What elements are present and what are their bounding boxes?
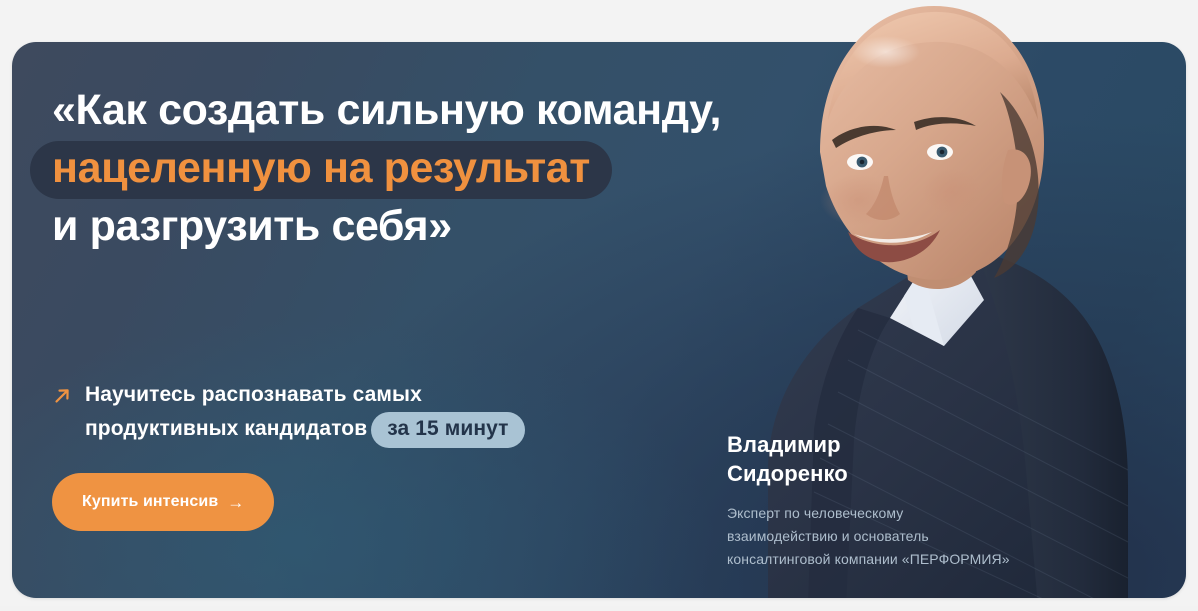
speaker-bio: Эксперт по человеческому взаимодействию … xyxy=(727,502,1057,571)
hero-content: «Как создать сильную команду, нацеленную… xyxy=(52,0,752,606)
feature-text-wrap: Научитесь распознавать самых продуктивны… xyxy=(85,378,565,448)
hero-stage: «Как создать сильную команду, нацеленную… xyxy=(0,0,1198,606)
headline-line-1: «Как создать сильную команду, xyxy=(52,81,752,139)
speaker-name: Владимир Сидоренко xyxy=(727,430,1057,488)
arrow-up-right-icon xyxy=(52,386,72,406)
arrow-right-icon: → xyxy=(227,494,244,511)
speaker-info: Владимир Сидоренко Эксперт по человеческ… xyxy=(727,430,1057,571)
page-title: «Как создать сильную команду, нацеленную… xyxy=(52,81,752,255)
feature-callout: Научитесь распознавать самых продуктивны… xyxy=(52,378,692,448)
duration-badge: за 15 минут xyxy=(371,412,524,448)
buy-intensive-button[interactable]: Купить интенсив → xyxy=(52,473,274,531)
headline-line-2: нацеленную на результат xyxy=(52,139,752,197)
cta-label: Купить интенсив xyxy=(82,493,218,511)
headline-highlight: нацеленную на результат xyxy=(30,141,612,199)
headline-line-3: и разгрузить себя» xyxy=(52,197,752,255)
